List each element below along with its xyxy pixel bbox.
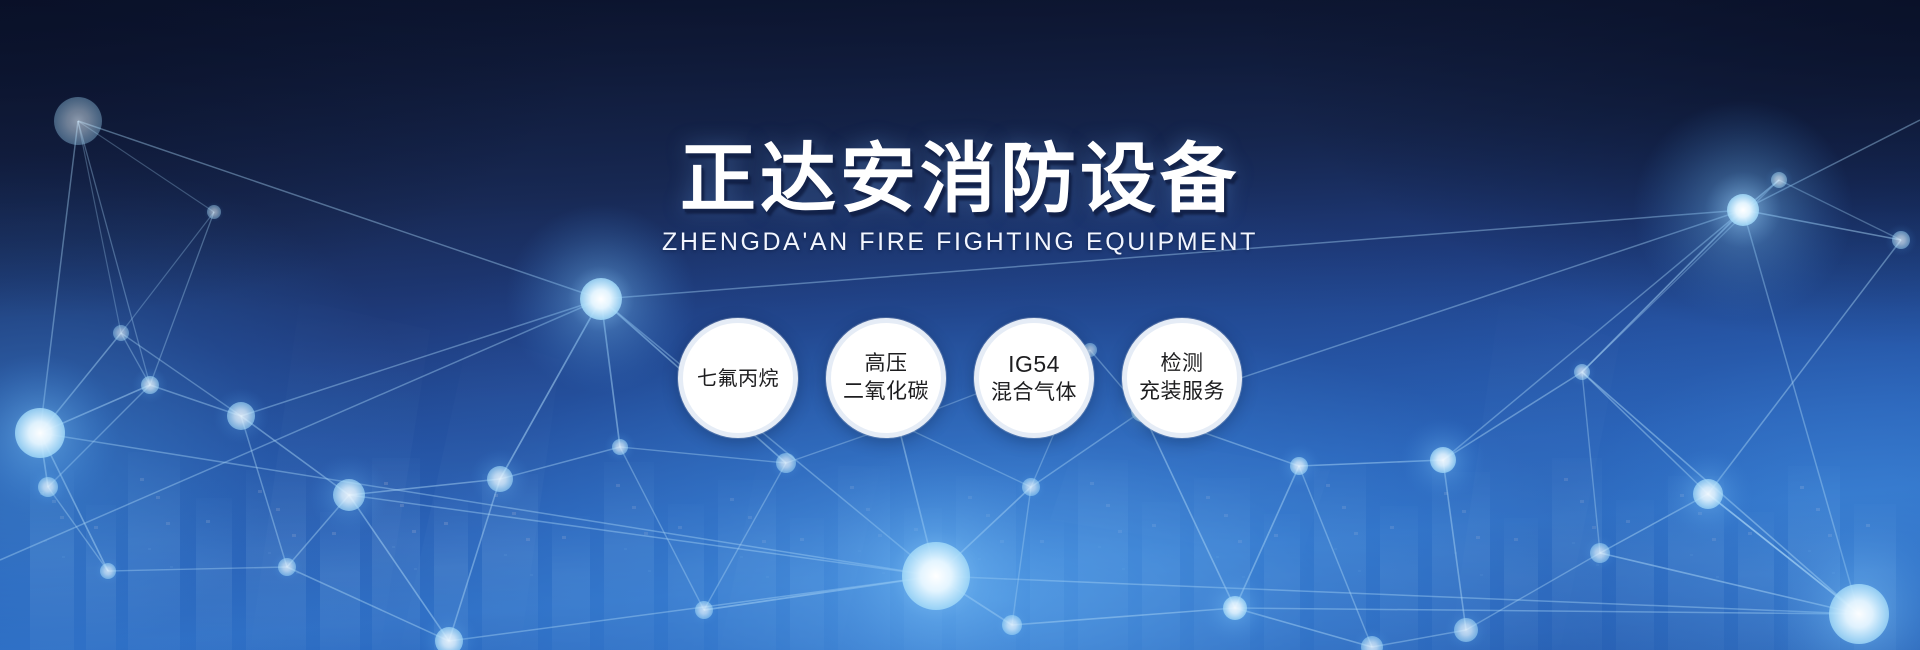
badge-label: 二氧化碳 [843, 378, 929, 406]
badge-label: 七氟丙烷 [697, 365, 779, 391]
badge-high-pressure-co2[interactable]: 高压二氧化碳 [826, 318, 946, 438]
badge-label: 高压 [865, 350, 908, 378]
product-badge-row: 七氟丙烷高压二氧化碳IG54混合气体检测充装服务 [678, 318, 1242, 438]
badge-label: 混合气体 [991, 379, 1077, 407]
badge-label: 充装服务 [1139, 378, 1225, 406]
page-subtitle: ZHENGDA'AN FIRE FIGHTING EQUIPMENT [662, 230, 1258, 255]
badge-ig54-mixed-gas[interactable]: IG54混合气体 [974, 318, 1094, 438]
title-block: 正达安消防设备 ZHENGDA'AN FIRE FIGHTING EQUIPME… [662, 141, 1258, 255]
badge-heptafluoropropane[interactable]: 七氟丙烷 [678, 318, 798, 438]
badge-inspection-filling[interactable]: 检测充装服务 [1122, 318, 1242, 438]
badge-label: IG54 [1008, 349, 1060, 379]
badge-label: 检测 [1161, 350, 1204, 378]
page-title: 正达安消防设备 [662, 141, 1258, 217]
hero-banner: 正达安消防设备 ZHENGDA'AN FIRE FIGHTING EQUIPME… [0, 0, 1920, 650]
banner-content: 正达安消防设备 ZHENGDA'AN FIRE FIGHTING EQUIPME… [0, 0, 1920, 650]
